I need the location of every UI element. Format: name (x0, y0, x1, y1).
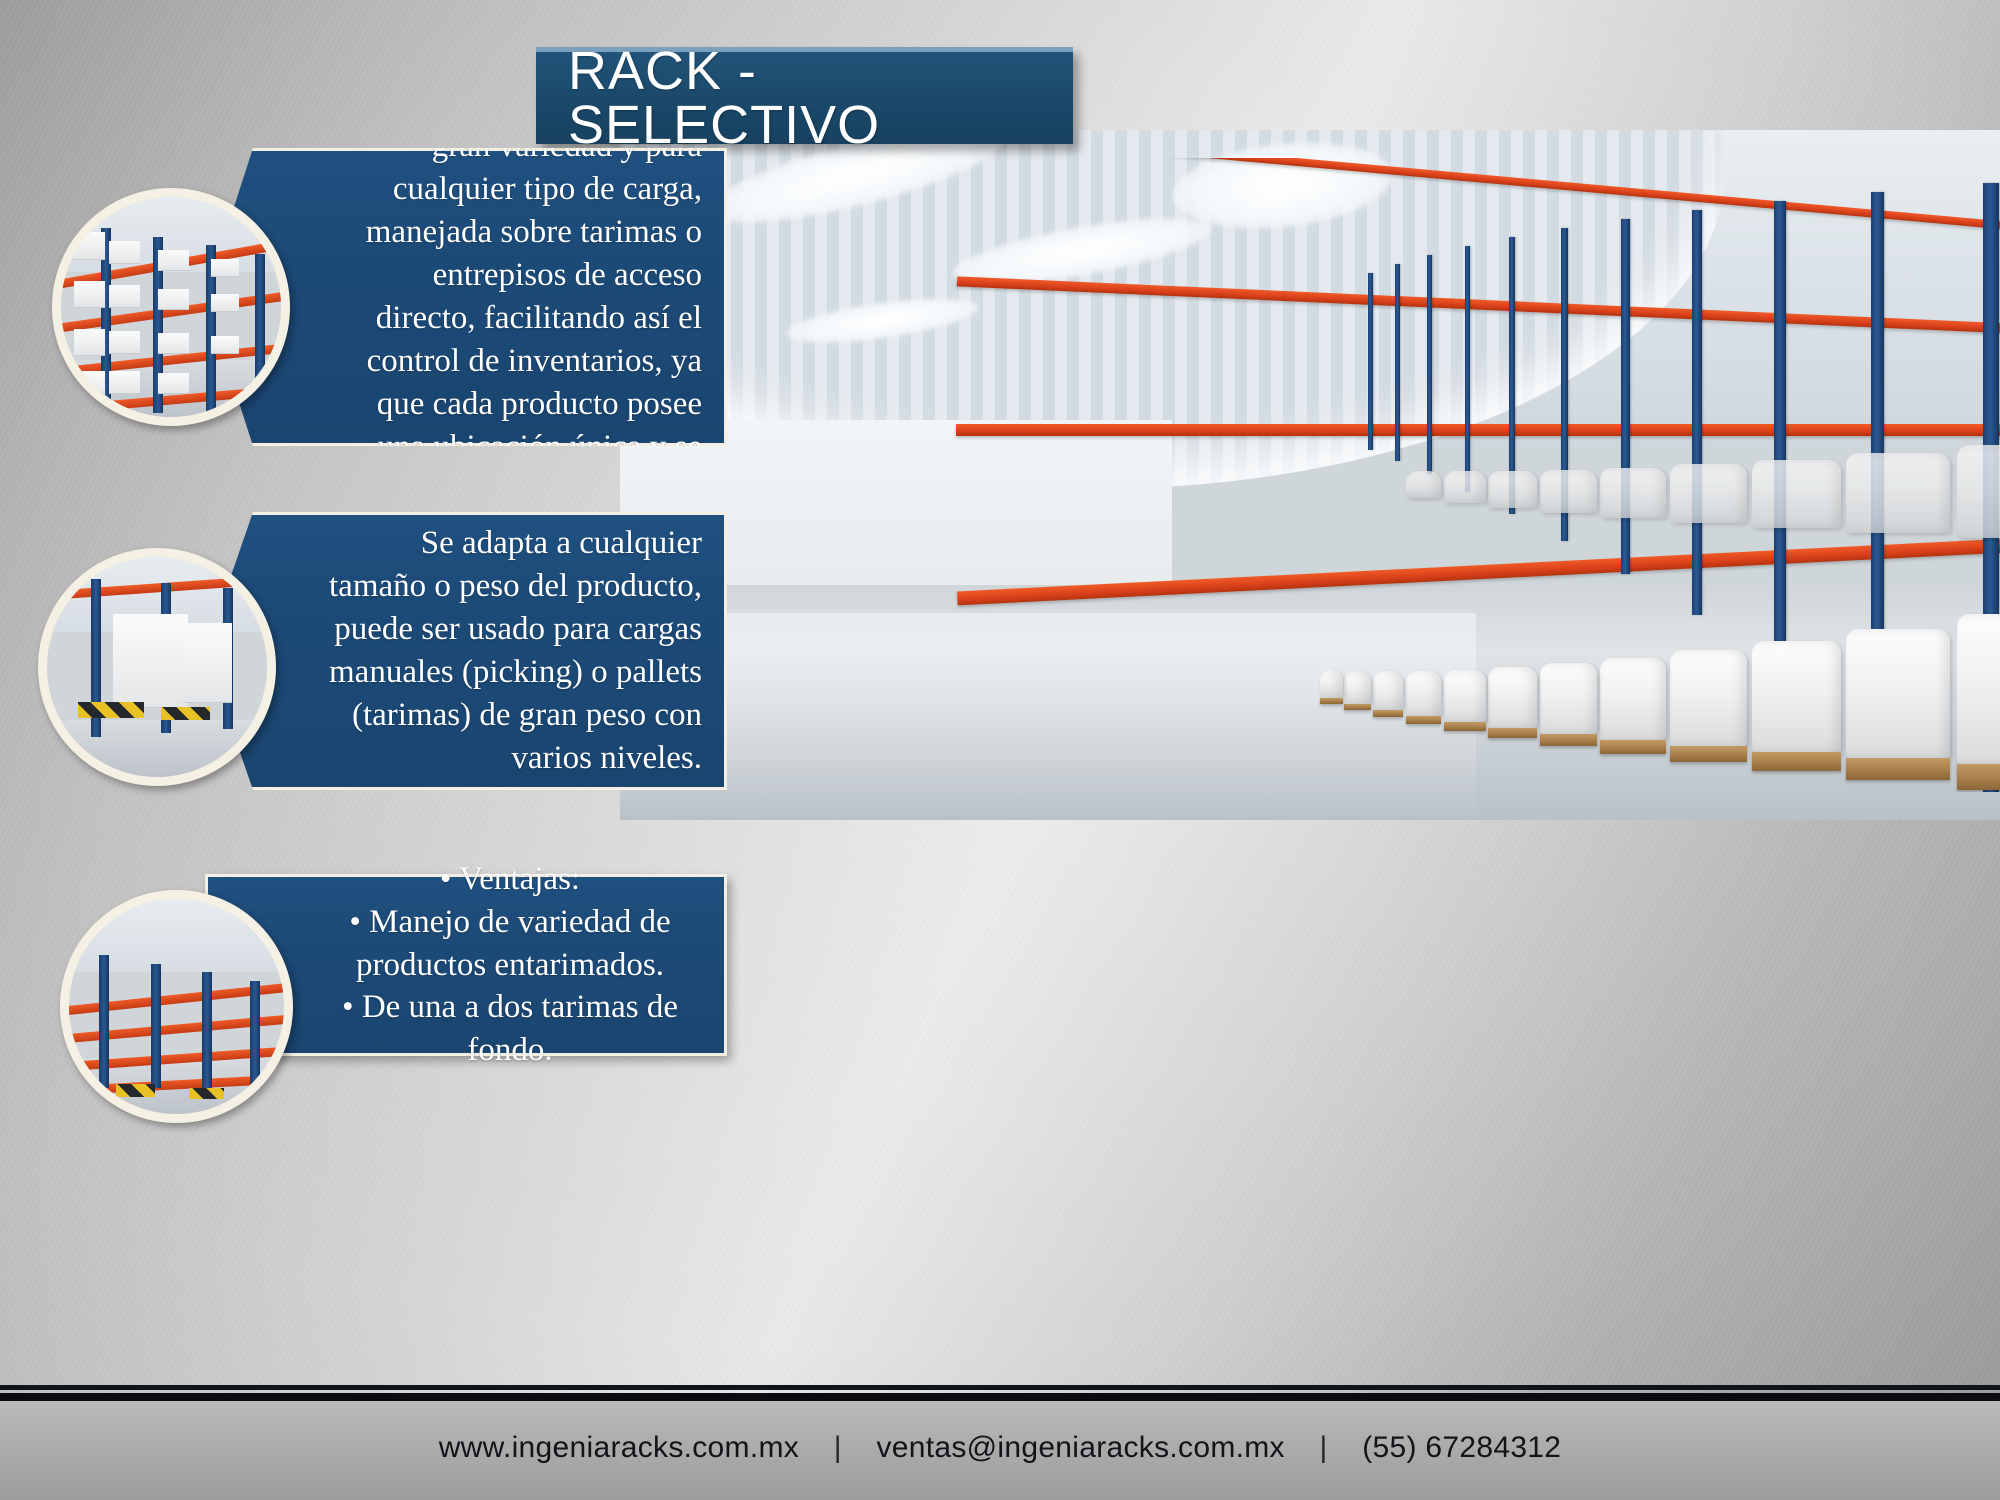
wooden-pallet (1600, 740, 1666, 754)
thumb-rack-guard (78, 702, 144, 717)
thumb-floor (47, 720, 267, 777)
rack-beam (957, 539, 2000, 605)
thumb-stacked-goods (74, 232, 105, 259)
wooden-pallet (1344, 704, 1371, 710)
footer-contact: www.ingeniaracks.com.mx | ventas@ingenia… (0, 1430, 2000, 1465)
thumb-stacked-goods (158, 250, 189, 271)
warehouse-photo (620, 130, 2000, 820)
thumb-stacked-goods (109, 331, 140, 354)
bulk-bag (1957, 445, 2000, 538)
adaptability-panel-text: Se adapta a cualquier tamaño o peso del … (208, 522, 724, 779)
wooden-pallet (1406, 716, 1442, 724)
wooden-pallet (1444, 722, 1486, 731)
thumbnail-racks-with-sacks (52, 188, 290, 426)
wooden-pallet (1540, 734, 1596, 746)
thumb-stacked-goods (109, 285, 140, 308)
rack-upright (1368, 273, 1373, 451)
rack-beam (957, 276, 2000, 333)
thumb-stacked-goods (74, 281, 105, 308)
thumb-rack-upright (151, 964, 161, 1089)
bulk-bag (1320, 669, 1343, 698)
wooden-pallet (1957, 764, 2000, 790)
thumb-stacked-goods (183, 623, 231, 703)
bulk-bag (1846, 629, 1949, 758)
bulk-bag (1752, 460, 1841, 529)
footer-divider-bottom (0, 1393, 2000, 1401)
bulk-bag (1406, 671, 1442, 716)
wooden-pallet (1320, 698, 1343, 704)
rack-beam (960, 158, 2000, 229)
thumb-stacked-goods (158, 333, 189, 354)
bulk-bag (1540, 663, 1596, 734)
footer-separator: | (808, 1431, 868, 1465)
rack-upright (1395, 264, 1400, 461)
thumb-stacked-goods (158, 373, 189, 394)
bulk-bag (1846, 453, 1949, 533)
rack-upright (1774, 201, 1786, 664)
wooden-pallet (1373, 710, 1404, 717)
wooden-pallet (1670, 746, 1746, 763)
rack-upright (1465, 246, 1470, 492)
slide-title-bar: RACK - SELECTIVO (536, 47, 1073, 144)
thumb-rack-upright (202, 972, 212, 1088)
rack-upright (1621, 219, 1630, 574)
bulk-bag (1406, 471, 1442, 499)
bulk-bag (1670, 464, 1746, 523)
thumb-rack-upright (99, 955, 109, 1088)
footer-email[interactable]: ventas@ingeniaracks.com.mx (876, 1431, 1284, 1465)
footer-phone[interactable]: (55) 67284312 (1362, 1431, 1561, 1465)
wooden-pallet (1488, 728, 1537, 739)
bulk-bag (1344, 671, 1371, 704)
thumb-rack-upright (250, 981, 260, 1089)
thumb-stacked-goods (74, 371, 105, 396)
thumb-stacked-goods (74, 329, 105, 356)
bulk-bag (1444, 670, 1486, 722)
thumb-stacked-goods (158, 289, 189, 310)
footer-separator: | (1293, 1431, 1353, 1465)
photo-rack-structure (924, 158, 2000, 793)
bulk-bag (1488, 667, 1537, 728)
footer-website[interactable]: www.ingeniaracks.com.mx (439, 1431, 799, 1465)
thumb-rack-guard (116, 1084, 155, 1097)
rack-beam (956, 424, 2000, 436)
bulk-bag (1600, 658, 1666, 740)
wooden-pallet (1752, 752, 1841, 771)
rack-upright (1427, 255, 1432, 474)
bulk-bag (1540, 470, 1596, 514)
thumb-stacked-goods (211, 259, 240, 278)
thumbnail-image-2 (47, 557, 267, 777)
advantages-line: • De una a dos tarimas de fondo. (318, 986, 702, 1072)
bulk-bag (1752, 641, 1841, 752)
thumb-rack-upright (255, 254, 265, 412)
thumbnail-empty-warehouse-racks (60, 890, 293, 1123)
wooden-pallet (1846, 758, 1949, 780)
thumbnail-image-3 (69, 899, 284, 1114)
bulk-bag (1488, 471, 1537, 509)
advantages-line: • Ventajas: (318, 858, 702, 901)
bulk-bag (1957, 614, 2000, 764)
thumbnail-pallet-rack-detail (38, 548, 276, 786)
thumb-rack-guard (189, 1088, 223, 1099)
bulk-bag (1670, 650, 1746, 745)
rack-upright (1692, 210, 1702, 615)
slide-root: RACK - SELECTIVO Esta diseñado para alma… (0, 0, 2000, 1500)
thumbnail-image-1 (61, 197, 281, 417)
bulk-bag (1444, 471, 1486, 503)
thumb-stacked-goods (109, 241, 140, 264)
footer-divider-top (0, 1385, 2000, 1390)
page-title: RACK - SELECTIVO (536, 44, 1073, 152)
advantages-line: • Manejo de variedad de productos entari… (318, 901, 702, 987)
thumb-stacked-goods (211, 294, 240, 313)
bulk-bag (1373, 671, 1404, 710)
thumb-stacked-goods (109, 371, 140, 394)
adaptability-panel: Se adapta a cualquier tamaño o peso del … (205, 512, 727, 790)
thumb-rack-guard (161, 707, 209, 720)
thumb-stacked-goods (113, 614, 188, 707)
bulk-bag (1600, 468, 1666, 519)
thumb-stacked-goods (211, 336, 240, 355)
